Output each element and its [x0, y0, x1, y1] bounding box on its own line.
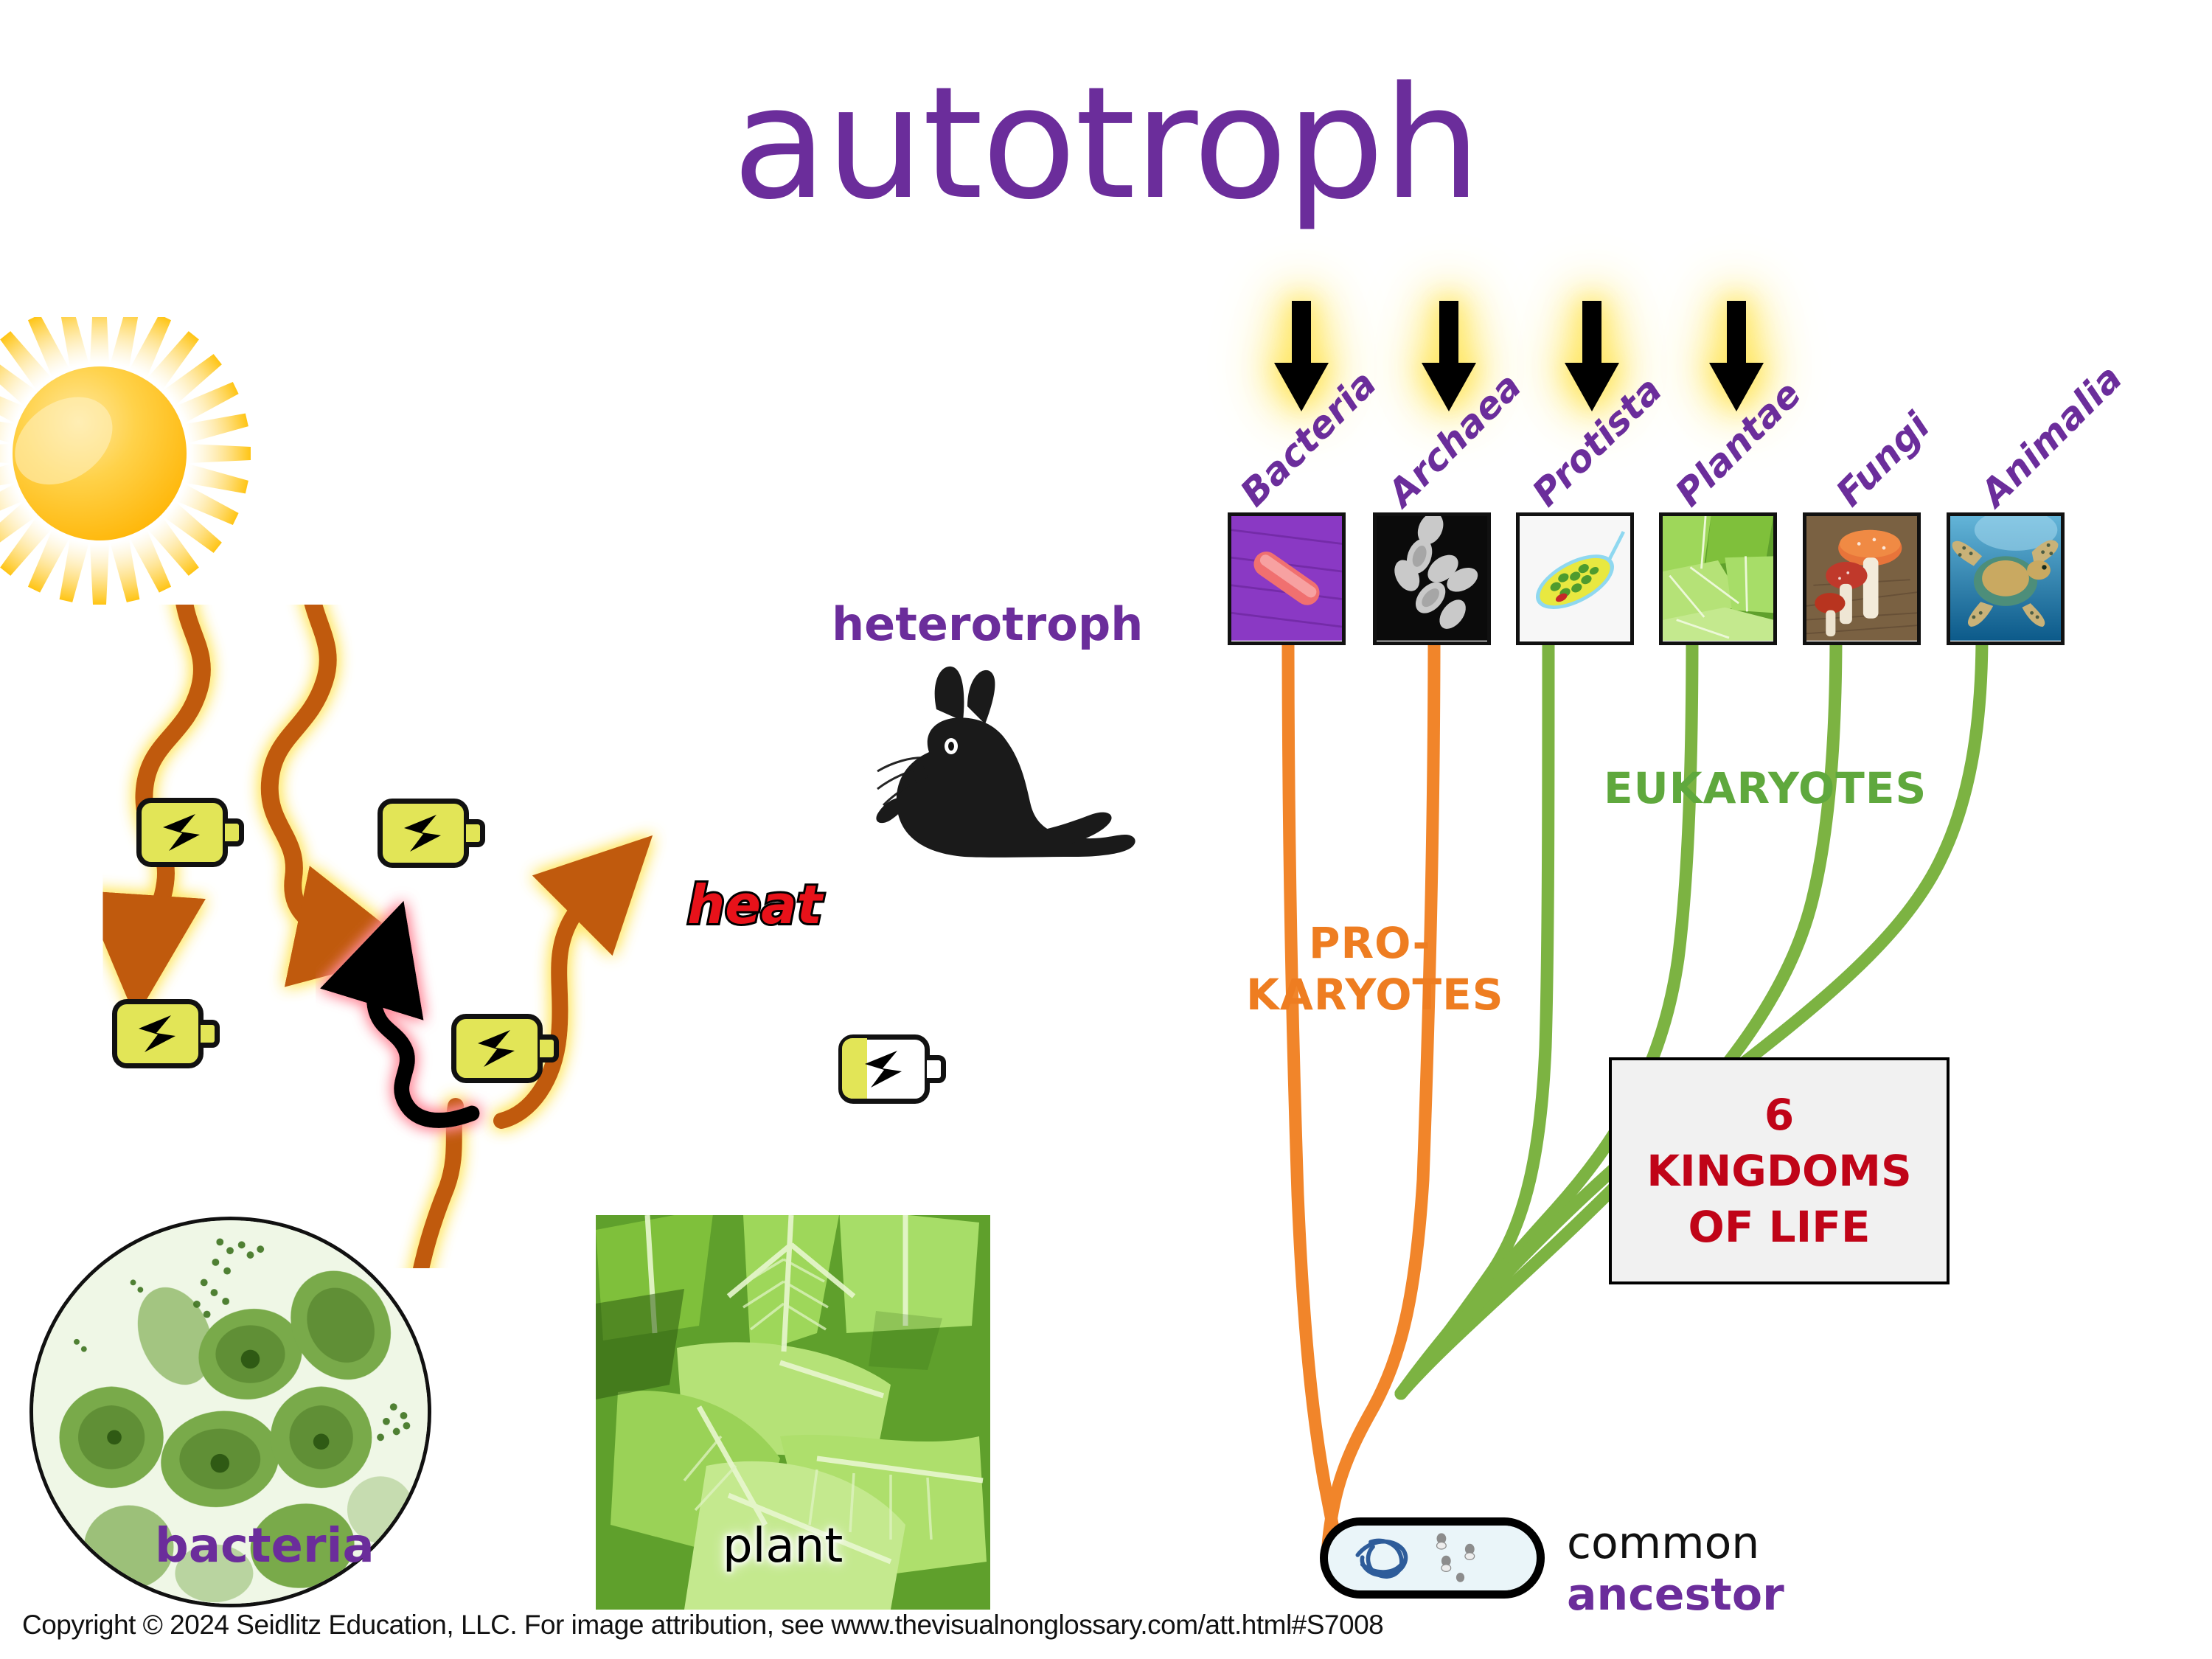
- heterotroph-label: heterotroph: [832, 597, 1143, 651]
- kingdoms-callout-box: 6 KINGDOMS OF LIFE: [1609, 1057, 1950, 1284]
- common-ancestor-label-line2: ancestor: [1567, 1569, 1784, 1621]
- poster-canvas: autotroph: [0, 0, 2212, 1659]
- copyright-footer: Copyright © 2024 Seidlitz Education, LLC…: [22, 1610, 1383, 1641]
- kingdoms-box-line1: 6: [1764, 1087, 1794, 1143]
- page-title: autotroph: [0, 66, 2212, 221]
- pointer-arrow-protista: [1565, 301, 1619, 411]
- rabbit-icon: [841, 664, 1158, 892]
- battery-icon: [451, 1014, 562, 1083]
- battery-icon: [136, 798, 247, 867]
- common-ancestor-label-line1: common: [1567, 1517, 1759, 1569]
- plant-label: plant: [723, 1519, 843, 1573]
- kingdom-image-plantae: [1659, 512, 1777, 645]
- kingdoms-box-line3: OF LIFE: [1688, 1199, 1871, 1255]
- kingdom-label-animalia: Animalia: [1972, 357, 2130, 515]
- kingdom-label-fungi: Fungi: [1828, 404, 1938, 515]
- eukaryotes-label: EUKARYOTES: [1604, 763, 1927, 813]
- kingdom-image-bacteria: [1228, 512, 1346, 645]
- kingdom-image-fungi: [1803, 512, 1921, 645]
- prokaryotes-label-line2: KARYOTES: [1246, 970, 1504, 1020]
- energy-flow-arrows: [88, 605, 936, 1268]
- kingdom-image-protista: [1516, 512, 1634, 645]
- common-ancestor-cell-icon: [1320, 1517, 1545, 1599]
- kingdoms-box-line2: KINGDOMS: [1646, 1143, 1912, 1199]
- battery-icon: [378, 799, 488, 868]
- prokaryotes-label-line1: PRO-: [1309, 918, 1431, 968]
- battery-low-icon: [838, 1034, 949, 1104]
- battery-icon: [112, 999, 223, 1068]
- kingdom-image-archaea: [1373, 512, 1491, 645]
- bacteria-label: bacteria: [155, 1519, 375, 1573]
- kingdom-image-animalia: [1947, 512, 2065, 645]
- heat-label: heat: [687, 874, 822, 936]
